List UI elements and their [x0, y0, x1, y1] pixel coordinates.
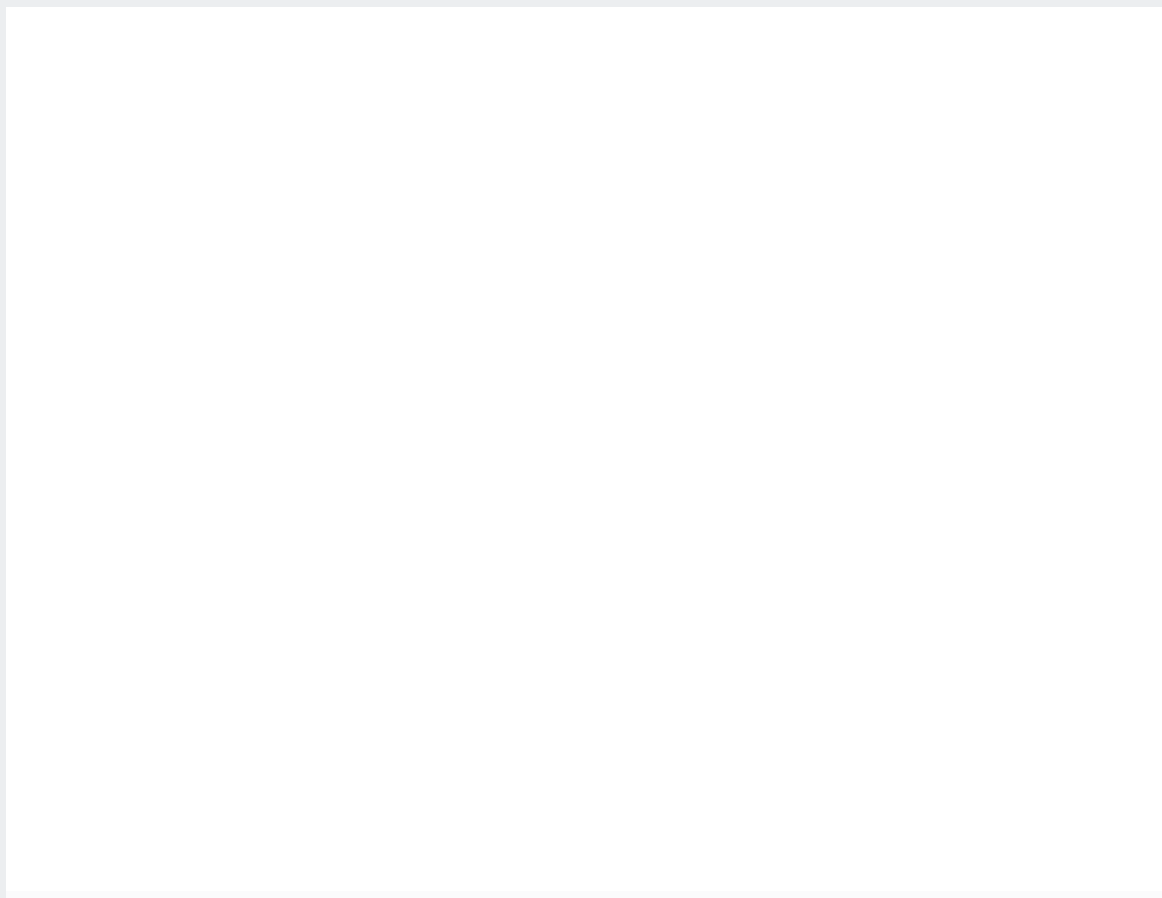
- spiderweb-decoration-icon: [6, 7, 1162, 218]
- bottom-band: [6, 891, 1162, 898]
- slide-canvas: [6, 7, 1162, 898]
- photo-strip: [6, 218, 1162, 563]
- slide-header: [6, 7, 1162, 218]
